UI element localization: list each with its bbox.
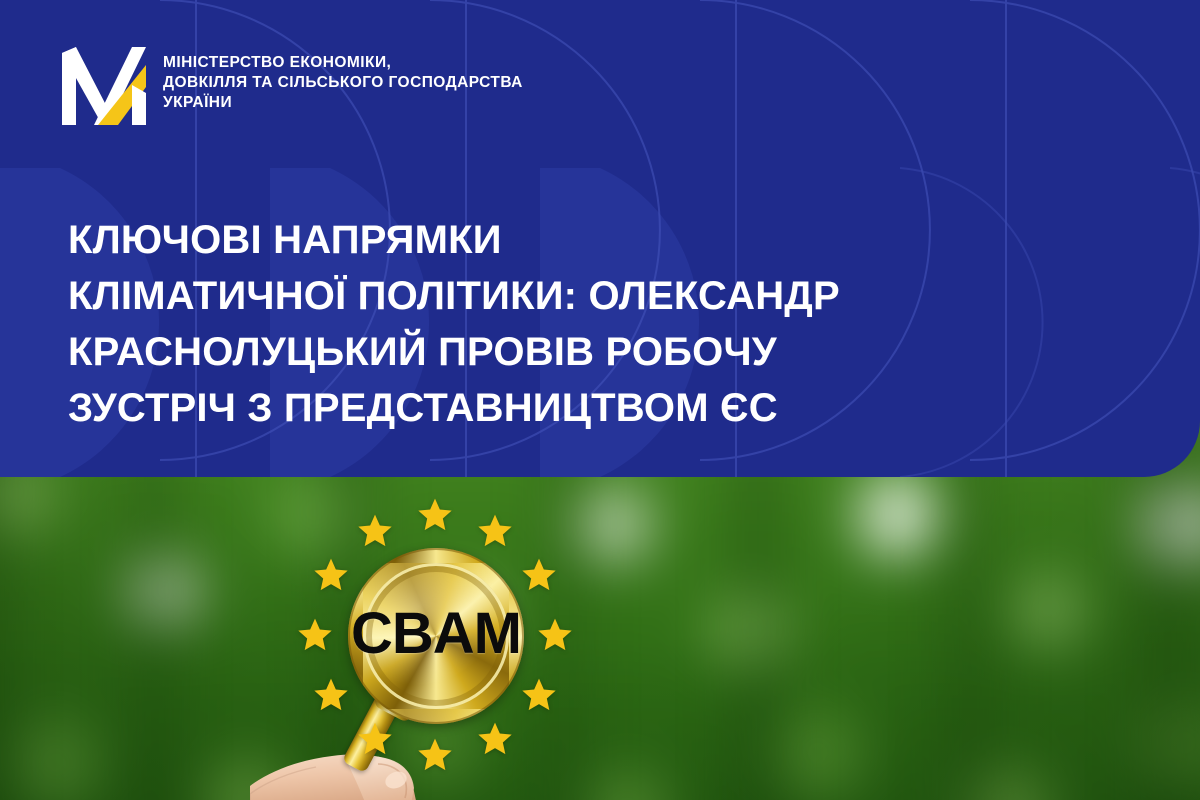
- eu-star-icon: [535, 616, 575, 656]
- ministry-m-logo-icon: [62, 47, 146, 125]
- eu-star-icon: [295, 616, 335, 656]
- poster-canvas: CBAM: [0, 0, 1200, 800]
- eu-star-icon: [475, 720, 515, 760]
- eu-star-icon: [519, 676, 559, 716]
- headline-line: ЗУСТРІЧ З ПРЕДСТАВНИЦТВОМ ЄС: [68, 380, 1068, 436]
- logo-line: ДОВКІЛЛЯ ТА СІЛЬСЬКОГО ГОСПОДАРСТВА: [163, 73, 523, 93]
- ministry-logo-text: МІНІСТЕРСТВО ЕКОНОМІКИ, ДОВКІЛЛЯ ТА СІЛЬ…: [163, 47, 523, 113]
- headline-line: КЛІМАТИЧНОЇ ПОЛІТИКИ: ОЛЕКСАНДР: [68, 268, 1068, 324]
- eu-star-icon: [311, 556, 351, 596]
- eu-star-icon: [475, 512, 515, 552]
- eu-star-icon: [355, 720, 395, 760]
- header-banner: МІНІСТЕРСТВО ЕКОНОМІКИ, ДОВКІЛЛЯ ТА СІЛЬ…: [0, 0, 1200, 477]
- headline-line: КРАСНОЛУЦЬКИЙ ПРОВІВ РОБОЧУ: [68, 324, 1068, 380]
- eu-star-icon: [415, 736, 455, 776]
- page-title: КЛЮЧОВІ НАПРЯМКИ КЛІМАТИЧНОЇ ПОЛІТИКИ: О…: [68, 212, 1068, 436]
- eu-star-icon: [415, 496, 455, 536]
- logo-line: УКРАЇНИ: [163, 93, 523, 113]
- logo-line: МІНІСТЕРСТВО ЕКОНОМІКИ,: [163, 53, 523, 73]
- eu-star-icon: [519, 556, 559, 596]
- ministry-logo[interactable]: МІНІСТЕРСТВО ЕКОНОМІКИ, ДОВКІЛЛЯ ТА СІЛЬ…: [62, 47, 523, 125]
- headline-line: КЛЮЧОВІ НАПРЯМКИ: [68, 212, 1068, 268]
- eu-star-icon: [311, 676, 351, 716]
- eu-star-icon: [355, 512, 395, 552]
